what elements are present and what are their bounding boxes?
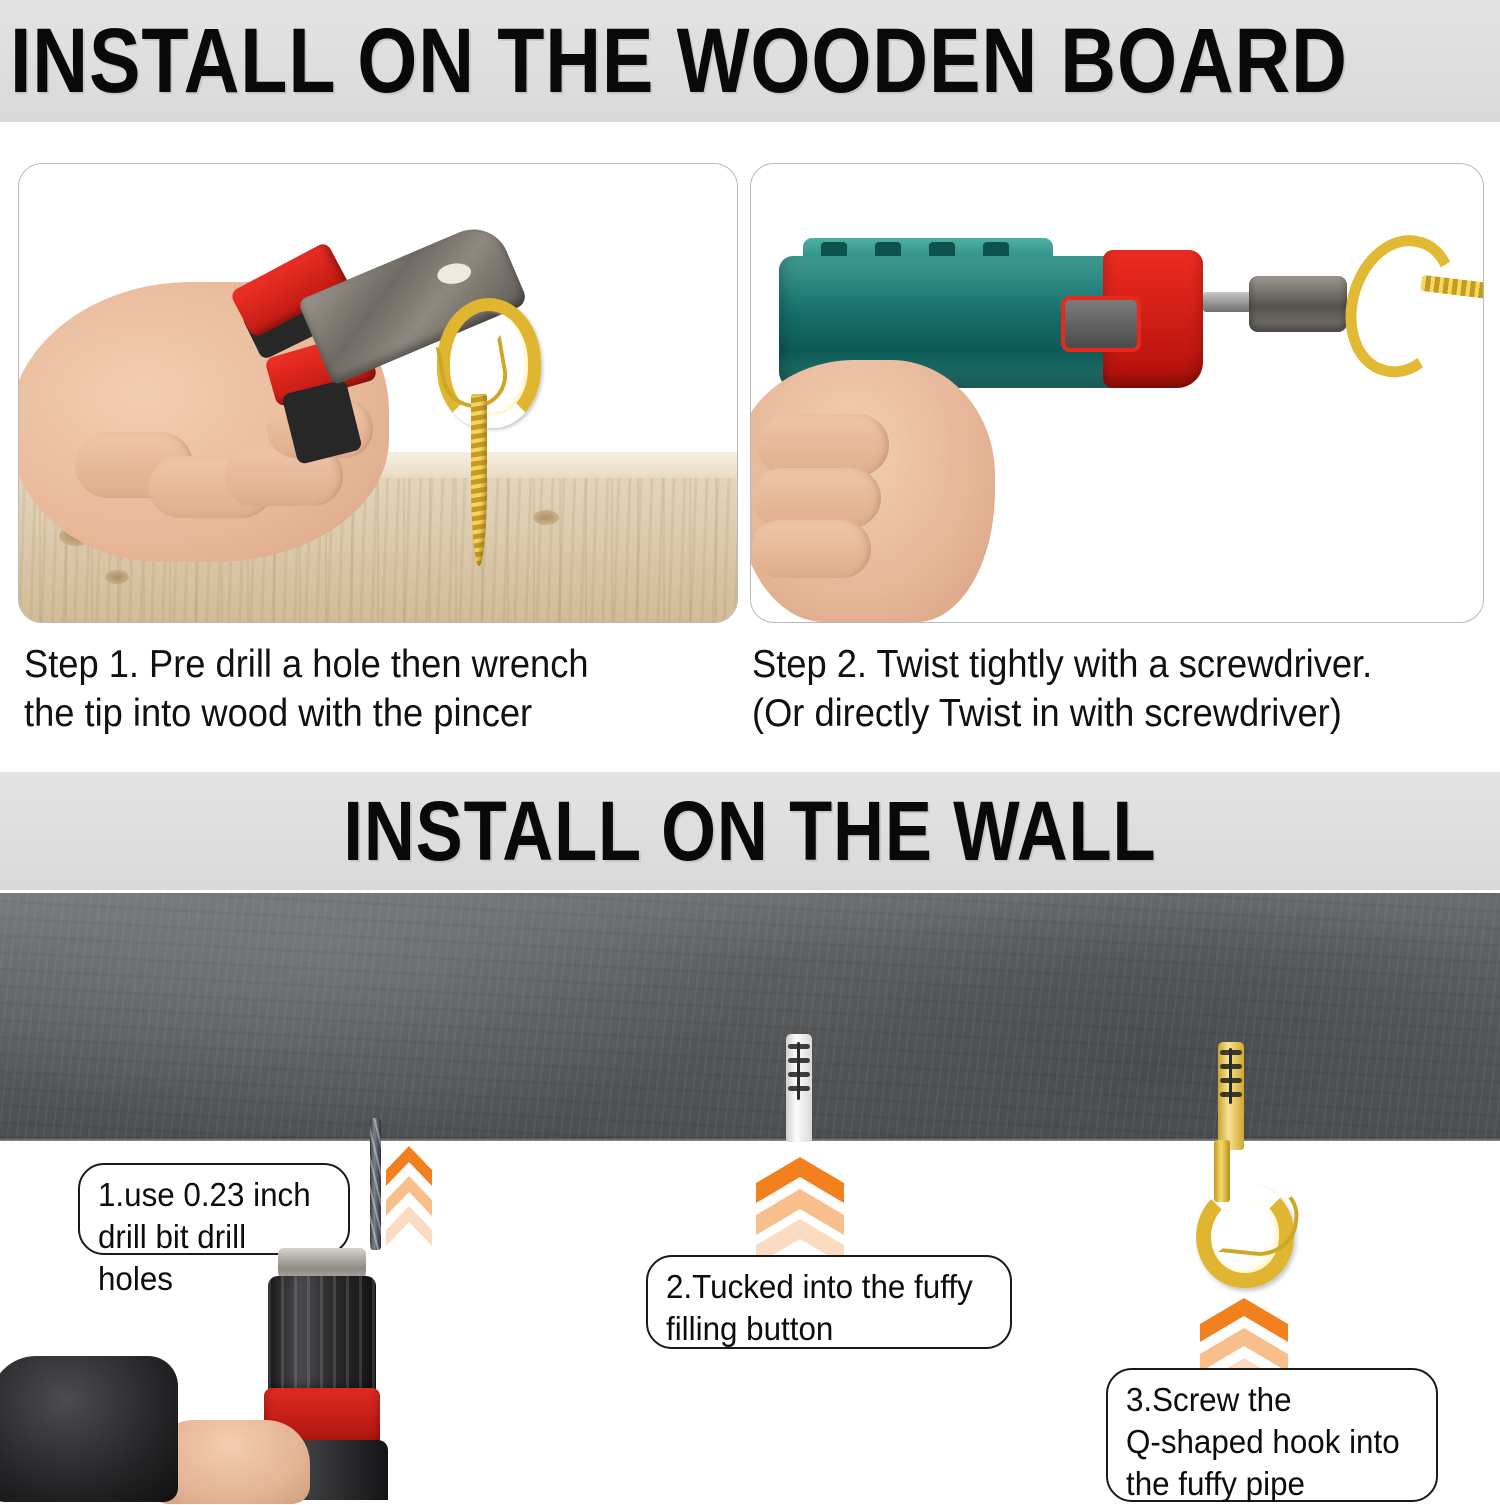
banner-wall-title: INSTALL ON THE WALL bbox=[344, 783, 1157, 880]
chevron-arrows-up-1-shapes bbox=[384, 1144, 434, 1256]
banner-wooden-board-title: INSTALL ON THE WOODEN BOARD bbox=[10, 9, 1348, 114]
gold-anchor-in-wall bbox=[1218, 1042, 1244, 1150]
gold-q-hook-image bbox=[437, 298, 529, 568]
wooden-board-panels bbox=[0, 163, 1500, 623]
step-2-caption: Step 2. Twist tightly with a screwdriver… bbox=[752, 640, 1459, 738]
step-captions: Step 1. Pre drill a hole then wrench the… bbox=[0, 640, 1500, 765]
wooden-post-image bbox=[1365, 164, 1483, 622]
chevron-up-icon bbox=[754, 1155, 846, 1267]
step-1-caption: Step 1. Pre drill a hole then wrench the… bbox=[24, 640, 712, 738]
callout-3: 3.Screw the Q-shaped hook into the fuffy… bbox=[1106, 1368, 1438, 1502]
callout-2: 2.Tucked into the fuffy filling button bbox=[646, 1255, 1012, 1349]
direction-switch-icon bbox=[1061, 296, 1141, 352]
step-2-photo bbox=[750, 163, 1484, 623]
chevron-up-icon bbox=[384, 1144, 434, 1256]
chevron-arrows-up-2 bbox=[754, 1155, 846, 1267]
step-1-photo bbox=[18, 163, 738, 623]
concrete-wall-image bbox=[0, 893, 1500, 1141]
callout-1: 1.use 0.23 inch drill bit drill holes bbox=[78, 1163, 350, 1255]
drill-chuck bbox=[1249, 276, 1347, 332]
callout-2-text: 2.Tucked into the fuffy filling button bbox=[666, 1266, 978, 1350]
gold-q-hook-on-wall bbox=[1196, 1140, 1316, 1300]
infographic-page: INSTALL ON THE WOODEN BOARD bbox=[0, 0, 1500, 1500]
drill-battery bbox=[0, 1356, 178, 1502]
white-wall-anchor-plug bbox=[786, 1034, 812, 1142]
gold-q-hook-image bbox=[1347, 234, 1484, 374]
banner-wall: INSTALL ON THE WALL bbox=[0, 772, 1500, 890]
drill-bit-icon bbox=[370, 1118, 381, 1250]
banner-wooden-board: INSTALL ON THE WOODEN BOARD bbox=[0, 0, 1500, 122]
callout-3-text: 3.Screw the Q-shaped hook into the fuffy… bbox=[1126, 1379, 1405, 1505]
